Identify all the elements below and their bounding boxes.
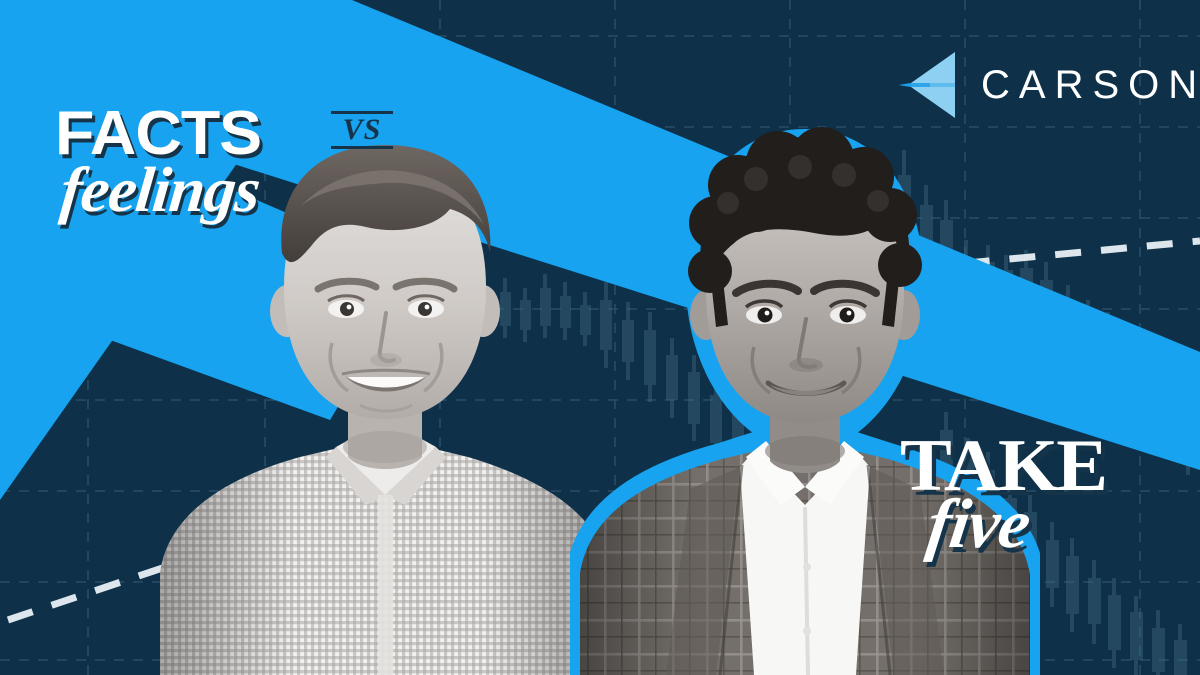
- host-right-portrait: [570, 75, 1040, 675]
- segment-logo: TAKE five: [900, 432, 1170, 582]
- show-logo-feelings: feelings: [58, 158, 389, 222]
- carson-wordmark: CARSON: [981, 63, 1200, 108]
- show-logo: FACTS VS feelings: [55, 105, 385, 235]
- segment-logo-five: five: [923, 490, 1175, 560]
- carson-chevron-icon: [897, 50, 959, 120]
- show-logo-versus: VS: [331, 114, 393, 146]
- podcast-thumbnail: FACTS VS feelings TAKE five CARSON: [0, 0, 1200, 675]
- carson-brand-lockup: CARSON: [897, 50, 1200, 120]
- show-logo-versus-badge: VS: [331, 111, 393, 149]
